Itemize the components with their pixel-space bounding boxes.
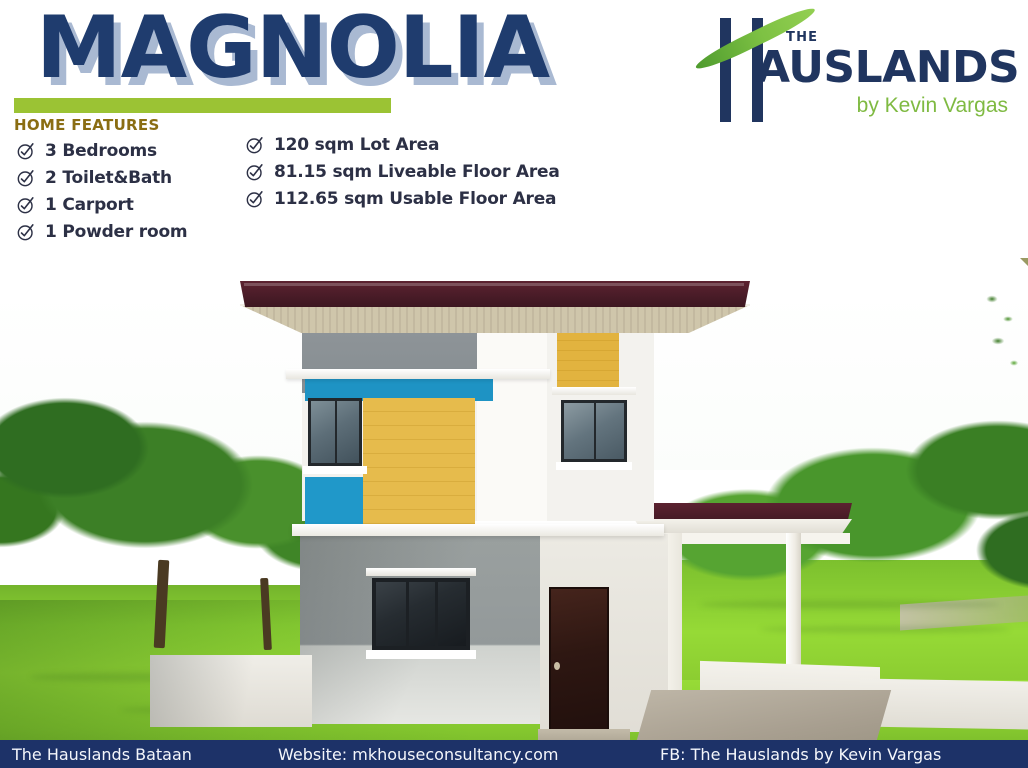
floor-divider-band (292, 524, 664, 536)
check-circle-icon (16, 168, 36, 188)
second-floor-window-left (308, 398, 362, 466)
list-item-label: 112.65 sqm Usable Floor Area (274, 189, 556, 209)
footer-facebook[interactable]: FB: The Hauslands by Kevin Vargas (660, 745, 941, 764)
second-floor-white-panel (477, 331, 547, 521)
list-item-label: 1 Carport (45, 195, 134, 215)
list-item-label: 1 Powder room (45, 222, 187, 242)
list-item-label: 120 sqm Lot Area (274, 135, 439, 155)
roof-highlight (244, 283, 744, 286)
footer-bar: The Hauslands Bataan Website: mkhousecon… (0, 740, 1028, 768)
logo-name-text: AUSLANDS (756, 42, 1019, 93)
list-item-label: 2 Toilet&Bath (45, 168, 172, 188)
list-item-label: 3 Bedrooms (45, 141, 157, 161)
list-item-label: 81.15 sqm Liveable Floor Area (274, 162, 560, 182)
fence-shadow (150, 655, 312, 727)
features-left-column: 3 Bedrooms 2 Toilet&Bath 1 Carport 1 Pow… (16, 140, 187, 248)
window-sill (366, 650, 476, 659)
check-circle-icon (245, 135, 265, 155)
list-item: 2 Toilet&Bath (16, 167, 187, 189)
accent-bar (14, 98, 391, 113)
footer-website[interactable]: Website: mkhouseconsultancy.com (278, 745, 558, 764)
check-circle-icon (245, 189, 265, 209)
window-sill (303, 466, 367, 474)
footer-location: The Hauslands Bataan (12, 745, 192, 764)
page-title: MAGNOLIA (36, 5, 549, 91)
check-circle-icon (16, 195, 36, 215)
list-item: 112.65 sqm Usable Floor Area (245, 188, 560, 210)
features-right-column: 120 sqm Lot Area 81.15 sqm Liveable Floo… (245, 134, 560, 215)
window-sill (556, 462, 632, 470)
yellow-siding-panel (363, 398, 475, 529)
section-label: HOME FEATURES (14, 116, 160, 134)
check-circle-icon (16, 222, 36, 242)
carport-roof (634, 503, 852, 521)
flyer-canvas: MAGNOLIA HOME FEATURES 3 Bedrooms 2 Toil… (0, 0, 1028, 768)
ground-floor-window (372, 578, 470, 650)
list-item: 1 Carport (16, 194, 187, 216)
brand-logo[interactable]: THE AUSLANDS by Kevin Vargas (706, 14, 1012, 122)
logo-tagline-text: by Kevin Vargas (857, 94, 1008, 118)
page-title-text: MAGNOLIA (36, 5, 549, 91)
yellow-accent-panel-top (557, 331, 619, 389)
upper-ledge (286, 369, 550, 379)
second-floor-window-right (561, 400, 627, 462)
front-door (549, 587, 609, 731)
window-canopy (552, 387, 636, 395)
list-item: 3 Bedrooms (16, 140, 187, 162)
window-hood (366, 568, 476, 576)
check-circle-icon (245, 162, 265, 182)
blue-accent-panel (305, 477, 363, 529)
list-item: 1 Powder room (16, 221, 187, 243)
door-knob (554, 662, 560, 670)
list-item: 81.15 sqm Liveable Floor Area (245, 161, 560, 183)
list-item: 120 sqm Lot Area (245, 134, 560, 156)
check-circle-icon (16, 141, 36, 161)
roof-soffit (240, 305, 750, 333)
